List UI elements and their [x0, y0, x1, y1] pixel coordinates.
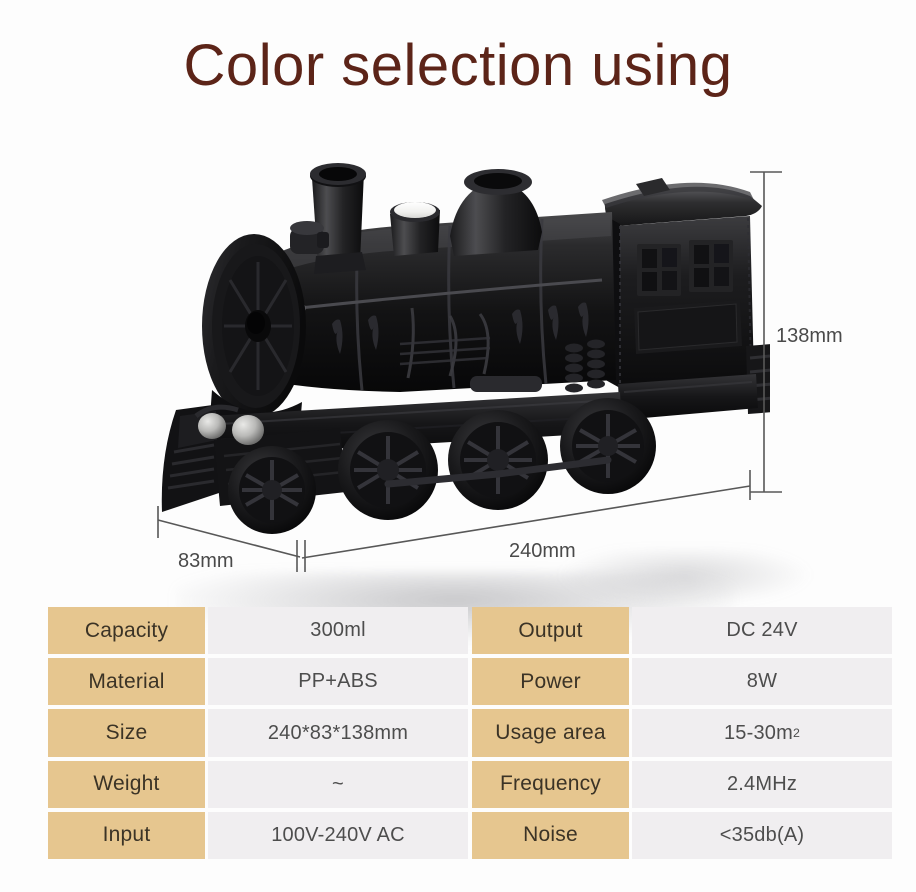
spec-key: Size — [48, 709, 205, 756]
spec-column-left: Capacity 300ml Material PP+ABS Size 240*… — [48, 607, 468, 859]
locomotive-cab — [602, 178, 770, 420]
table-row: Usage area 15-30m2 — [472, 709, 892, 756]
spec-key: Weight — [48, 761, 205, 808]
spec-value-text: 15-30m — [724, 722, 793, 745]
page-title: Color selection using — [0, 28, 916, 104]
spec-value-superscript: 2 — [793, 726, 800, 740]
spec-key: Output — [472, 607, 629, 654]
mist-outlet-dome — [390, 202, 440, 256]
table-row: Output DC 24V — [472, 607, 892, 654]
wheel-driver-3 — [560, 398, 656, 494]
table-row: Size 240*83*138mm — [48, 709, 468, 756]
table-row: Frequency 2.4MHz — [472, 761, 892, 808]
table-row: Noise <35db(A) — [472, 812, 892, 859]
spec-value: <35db(A) — [632, 812, 892, 859]
spec-column-right: Output DC 24V Power 8W Usage area 15-30m… — [472, 607, 892, 859]
spec-value: 2.4MHz — [632, 761, 892, 808]
spec-key: Noise — [472, 812, 629, 859]
table-row: Weight ~ — [48, 761, 468, 808]
spec-value: DC 24V — [632, 607, 892, 654]
locomotive-smokestack — [310, 163, 366, 274]
spec-key: Frequency — [472, 761, 629, 808]
spec-value: PP+ABS — [208, 658, 468, 705]
spec-value: 100V-240V AC — [208, 812, 468, 859]
spec-value: 8W — [632, 658, 892, 705]
spec-value: 240*83*138mm — [208, 709, 468, 756]
spec-value: 15-30m2 — [632, 709, 892, 756]
table-row: Input 100V-240V AC — [48, 812, 468, 859]
locomotive-steam-dome — [450, 169, 542, 256]
spec-value: ~ — [208, 761, 468, 808]
spec-key: Input — [48, 812, 205, 859]
spec-value: 300ml — [208, 607, 468, 654]
wheel-driver-1 — [338, 420, 438, 520]
specification-table: Capacity 300ml Material PP+ABS Size 240*… — [48, 607, 892, 859]
product-detail-page: Color selection using — [0, 0, 916, 892]
wheel-driver-2 — [448, 410, 548, 510]
table-row: Material PP+ABS — [48, 658, 468, 705]
table-row: Capacity 300ml — [48, 607, 468, 654]
spec-key: Usage area — [472, 709, 629, 756]
table-row: Power 8W — [472, 658, 892, 705]
product-photo — [0, 120, 916, 590]
locomotive-humidifier-image — [150, 140, 770, 570]
wheel-front — [228, 446, 316, 534]
spec-key: Capacity — [48, 607, 205, 654]
spec-key: Power — [472, 658, 629, 705]
spec-key: Material — [48, 658, 205, 705]
locomotive-whistle — [290, 221, 329, 254]
